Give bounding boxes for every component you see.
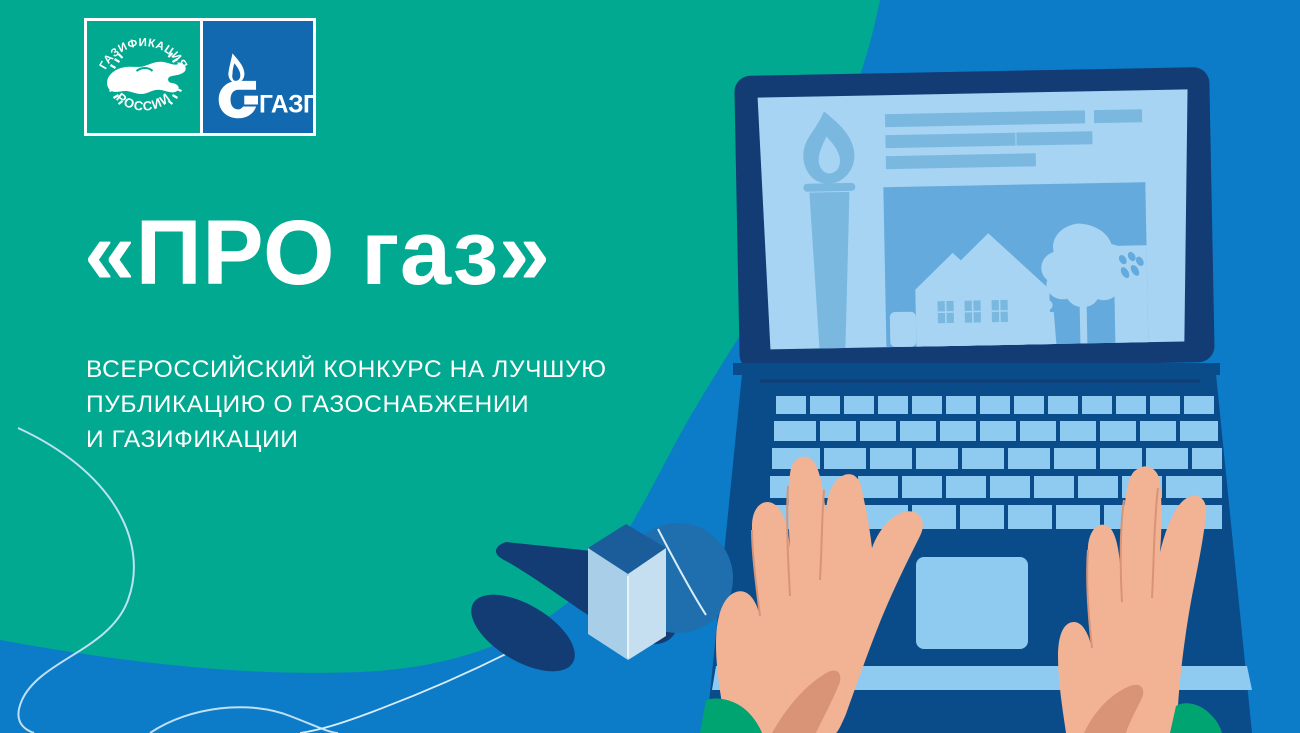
- gazprom-wordmark-label: ГАЗПРОМ: [259, 91, 313, 118]
- key: [916, 448, 958, 469]
- gazprom-g-letter: [219, 81, 258, 118]
- page-title: «ПРО газ»: [84, 207, 551, 299]
- key: [860, 421, 896, 441]
- laptop-trackpad[interactable]: [916, 557, 1028, 649]
- key: [1034, 476, 1074, 498]
- subtitle-line-2: ПУБЛИКАЦИЮ О ГАЗОСНАБЖЕНИИ: [86, 387, 607, 422]
- key: [960, 505, 1004, 529]
- key: [990, 476, 1030, 498]
- screen-photo-panel: [883, 182, 1148, 347]
- key: [1116, 396, 1146, 414]
- key: [774, 421, 816, 441]
- gazprom-flame-icon: [228, 53, 244, 82]
- key: [912, 396, 942, 414]
- gazprom-wordmark-icon: ГАЗПРОМ: [203, 21, 313, 133]
- key: [870, 448, 912, 469]
- text-bar: [885, 133, 1015, 148]
- key: [1184, 396, 1214, 414]
- banner-subtitle: ВСЕРОССИЙСКИЙ КОНКУРС НА ЛУЧШУЮ ПУБЛИКАЦ…: [86, 352, 607, 457]
- tree-trunk: [1079, 293, 1087, 343]
- key: [1020, 421, 1056, 441]
- key: [1008, 448, 1050, 469]
- key: [900, 421, 936, 441]
- gasification-of-russia-logo: ГАЗИФИКАЦИЯ РОССИИ: [87, 21, 200, 133]
- key: [940, 421, 976, 441]
- key: [1082, 396, 1112, 414]
- logo-lockup: ГАЗИФИКАЦИЯ РОССИИ: [84, 18, 316, 136]
- key-row-3: [772, 448, 1222, 469]
- key: [1056, 505, 1100, 529]
- key: [1100, 448, 1142, 469]
- key: [1166, 476, 1222, 498]
- laptop-hinge: [733, 363, 1220, 375]
- key: [1008, 505, 1052, 529]
- key: [810, 396, 840, 414]
- key: [902, 476, 942, 498]
- key: [1100, 421, 1136, 441]
- key: [1180, 421, 1218, 441]
- key: [980, 421, 1016, 441]
- key: [1192, 448, 1222, 469]
- promo-banner: ГАЗИФИКАЦИЯ РОССИИ: [0, 0, 1300, 733]
- key: [1014, 396, 1044, 414]
- key: [858, 476, 898, 498]
- key: [1150, 396, 1180, 414]
- key: [980, 396, 1010, 414]
- key: [1146, 448, 1188, 469]
- key: [962, 448, 1004, 469]
- key: [878, 396, 908, 414]
- reporter-microphone: [459, 523, 733, 687]
- laptop-lid: [734, 67, 1215, 371]
- key-row-2: [774, 421, 1218, 441]
- gazprom-logo: ГАЗПРОМ: [200, 21, 313, 133]
- gas-box-body: [890, 312, 917, 347]
- subtitle-line-3: И ГАЗИФИКАЦИИ: [86, 422, 607, 457]
- tree-right: [1114, 245, 1149, 343]
- key: [844, 396, 874, 414]
- key: [824, 448, 866, 469]
- gas-pipe-cap: [915, 297, 925, 303]
- torch-collar: [803, 183, 855, 192]
- key: [820, 421, 856, 441]
- text-bar: [1094, 109, 1142, 123]
- russia-map-in-circle-icon: ГАЗИФИКАЦИЯ РОССИИ: [87, 21, 200, 133]
- key: [1060, 421, 1096, 441]
- subtitle-line-1: ВСЕРОССИЙСКИЙ КОНКУРС НА ЛУЧШУЮ: [86, 352, 607, 387]
- key: [1078, 476, 1118, 498]
- key: [946, 396, 976, 414]
- key: [1054, 448, 1096, 469]
- key: [776, 396, 806, 414]
- key: [946, 476, 986, 498]
- gas-pipe: [918, 301, 925, 346]
- key: [1048, 396, 1078, 414]
- key: [1140, 421, 1176, 441]
- russia-map-shape: [107, 62, 186, 94]
- text-bar: [1016, 131, 1092, 145]
